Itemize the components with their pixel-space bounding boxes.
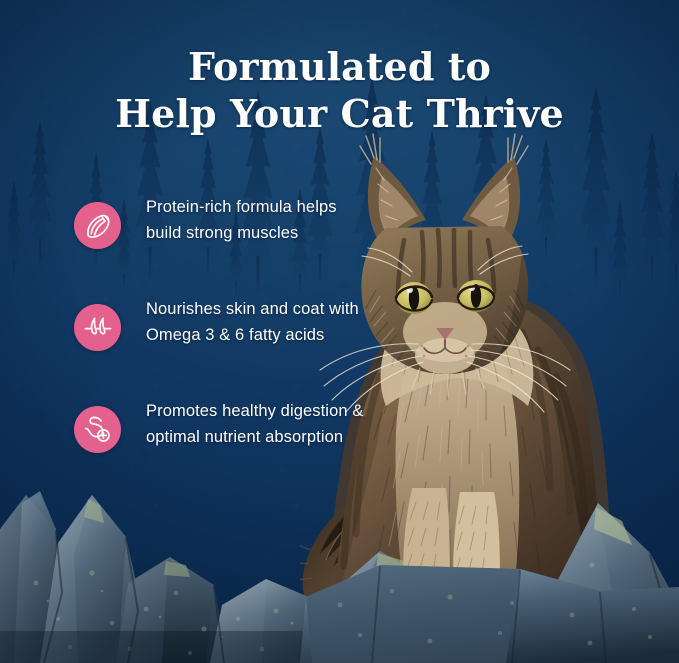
headline-line-1: Formulated to [0,43,679,90]
benefit-text: Protein-rich formula helps build strong … [146,190,364,246]
headline: Formulated to Help Your Cat Thrive [0,43,679,137]
fur-strands-icon [74,304,121,351]
muscle-icon [74,202,121,249]
benefit-text: Promotes healthy digestion & optimal nut… [146,394,364,450]
benefit-text: Nourishes skin and coat with Omega 3 & 6… [146,292,364,348]
product-benefits-poster: Formulated to Help Your Cat Thrive Prote… [0,0,679,663]
headline-line-2: Help Your Cat Thrive [0,90,679,137]
benefits-list: Protein-rich formula helps build strong … [74,190,364,464]
benefit-item-skin-coat: Nourishes skin and coat with Omega 3 & 6… [74,292,364,362]
benefit-item-protein: Protein-rich formula helps build strong … [74,190,364,260]
stomach-plus-icon [74,406,121,453]
benefit-item-digestion: Promotes healthy digestion & optimal nut… [74,394,364,464]
rock-ledge-foreground [0,543,679,663]
